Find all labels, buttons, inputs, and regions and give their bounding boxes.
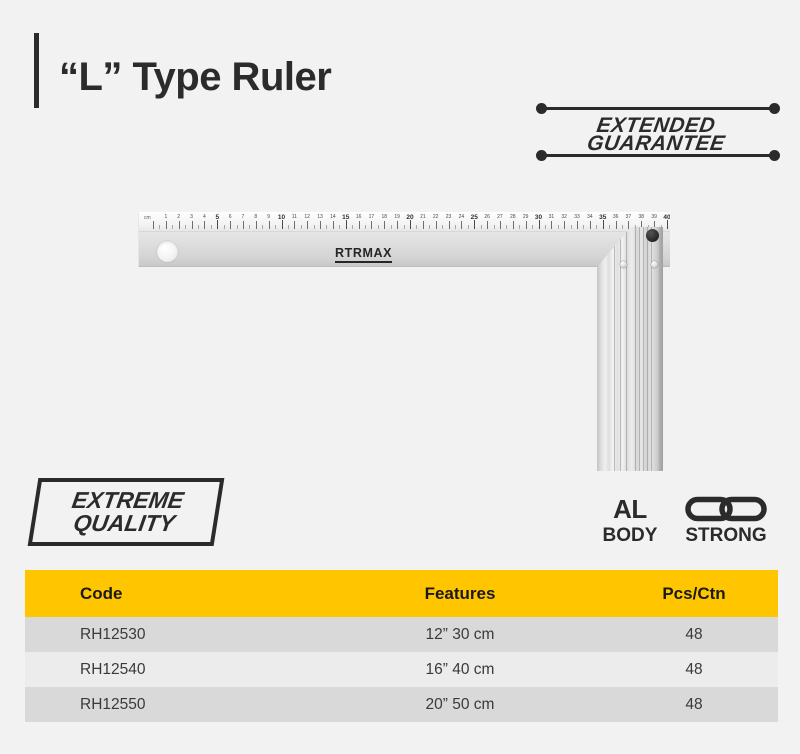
ruler-tick <box>256 221 257 229</box>
ruler-tick-label: 28 <box>510 214 516 220</box>
ruler-tick <box>423 221 424 229</box>
ruler-tick <box>346 220 347 229</box>
ruler-tick <box>204 221 205 229</box>
ruler-tick <box>192 221 193 229</box>
specification-table: Code Features Pcs/Ctn RH12530 12” 30 cm … <box>25 570 778 722</box>
product-image-l-type-ruler: cm 1234567891011121314151617181920212223… <box>130 195 690 495</box>
ruler-tick-label: 7 <box>242 214 245 220</box>
ruler-tick <box>320 221 321 229</box>
ruler-tick-label: 16 <box>356 214 362 220</box>
header-code: Code <box>25 584 310 604</box>
cell-pcs: 48 <box>610 696 778 714</box>
ruler-tick-label: 14 <box>330 214 336 220</box>
ruler-tick <box>288 225 289 229</box>
ruler-horizontal-blade: cm 1234567891011121314151617181920212223… <box>138 212 670 267</box>
ruler-tick-label: 10 <box>278 214 285 221</box>
ruler-tick-label: 15 <box>342 214 349 221</box>
ruler-tick <box>352 225 353 229</box>
ruler-tick <box>481 225 482 229</box>
page-title: “L” Type Ruler <box>59 55 331 100</box>
brand-logo: RTRMAX <box>335 246 392 263</box>
cell-pcs: 48 <box>610 661 778 679</box>
ruler-tick-label: 38 <box>639 214 645 220</box>
ruler-tick <box>359 221 360 229</box>
ruler-unit-label: cm <box>144 215 151 221</box>
table-row[interactable]: RH12530 12” 30 cm 48 <box>25 617 778 652</box>
ruler-tick-label: 32 <box>561 214 567 220</box>
ruler-tick <box>590 221 591 229</box>
ruler-tick <box>571 225 572 229</box>
ruler-tick <box>506 225 507 229</box>
ruler-tick <box>564 221 565 229</box>
ruler-tick-label: 35 <box>599 214 606 221</box>
ruler-tick <box>294 221 295 229</box>
corner-bolt <box>646 229 659 242</box>
ruler-tick-label: 25 <box>471 214 478 221</box>
ruler-tick <box>307 221 308 229</box>
ruler-tick-label: 18 <box>382 214 388 220</box>
table-row[interactable]: RH12540 16” 40 cm 48 <box>25 652 778 687</box>
ruler-tick-label: 24 <box>459 214 465 220</box>
ruler-stock-right-edge <box>659 227 663 471</box>
feature-strong: STRONG <box>670 494 782 548</box>
ruler-tick <box>410 220 411 229</box>
guarantee-dot-top-left <box>536 103 547 114</box>
ruler-tick-label: 22 <box>433 214 439 220</box>
ruler-tick-label: 11 <box>292 214 297 220</box>
ruler-tick <box>249 225 250 229</box>
ruler-tick <box>378 225 379 229</box>
ruler-tick <box>371 221 372 229</box>
ruler-tick <box>314 225 315 229</box>
ruler-tick <box>416 225 417 229</box>
ruler-tick <box>198 225 199 229</box>
table-header-row: Code Features Pcs/Ctn <box>25 570 778 617</box>
ruler-tick <box>159 225 160 229</box>
cell-features: 20” 50 cm <box>310 696 610 714</box>
ruler-tick-label: 36 <box>613 214 619 220</box>
ruler-tick-label: 5 <box>215 214 219 221</box>
ruler-tick <box>513 221 514 229</box>
extreme-quality-badge: EXTREME QUALITY <box>28 478 225 546</box>
quality-label-line1: EXTREME <box>70 489 185 512</box>
ruler-tick-label: 27 <box>497 214 503 220</box>
ruler-tick-label: 33 <box>574 214 580 220</box>
guarantee-dot-top-right <box>769 103 780 114</box>
ruler-tick <box>404 225 405 229</box>
cell-features: 16” 40 cm <box>310 661 610 679</box>
ruler-tick-label: 30 <box>535 214 542 221</box>
ruler-tick <box>391 225 392 229</box>
hanging-hole <box>157 241 178 262</box>
ruler-tick <box>217 220 218 229</box>
ruler-tick <box>179 221 180 229</box>
ruler-tick <box>243 221 244 229</box>
ruler-tick <box>603 220 604 229</box>
ruler-tick <box>545 225 546 229</box>
ruler-tick <box>558 225 559 229</box>
ruler-tick-label: 37 <box>626 214 632 220</box>
feature-al-body: AL BODY <box>596 494 664 548</box>
ruler-tick-label: 21 <box>420 214 426 220</box>
ruler-tick <box>397 221 398 229</box>
ruler-tick <box>282 220 283 229</box>
cell-pcs: 48 <box>610 626 778 644</box>
ruler-tick-label: 4 <box>203 214 206 220</box>
chain-link-icon <box>670 494 782 524</box>
ruler-tick <box>622 225 623 229</box>
ruler-tick <box>436 221 437 229</box>
ruler-tick <box>609 225 610 229</box>
ruler-tick <box>519 225 520 229</box>
ruler-tick <box>339 225 340 229</box>
header-pcs-ctn: Pcs/Ctn <box>610 584 778 604</box>
ruler-tick-label: 26 <box>484 214 490 220</box>
ruler-tick-label: 23 <box>446 214 452 220</box>
ruler-tick <box>461 221 462 229</box>
ruler-tick-label: 20 <box>406 214 413 221</box>
ruler-tick-label: 29 <box>523 214 529 220</box>
ruler-tick <box>468 225 469 229</box>
cell-features: 12” 30 cm <box>310 626 610 644</box>
ruler-tick-label: 40 <box>663 214 670 221</box>
guarantee-label-line2: GUARANTEE <box>528 132 784 156</box>
ruler-tick <box>429 225 430 229</box>
ruler-tick-label: 9 <box>267 214 270 220</box>
ruler-tick-label: 13 <box>317 214 323 220</box>
ruler-tick <box>166 221 167 229</box>
ruler-tick-label: 39 <box>651 214 657 220</box>
ruler-tick-label: 3 <box>190 214 193 220</box>
ruler-tick-label: 31 <box>549 214 555 220</box>
ruler-tick <box>616 221 617 229</box>
ruler-tick <box>269 221 270 229</box>
rivet-left <box>620 261 627 268</box>
ruler-tick <box>230 221 231 229</box>
feature-strong-bottom-label: STRONG <box>670 524 782 548</box>
extended-guarantee-badge: EXTENDED GUARANTEE <box>530 96 782 168</box>
ruler-tick <box>500 221 501 229</box>
header-features: Features <box>310 584 610 604</box>
product-catalog-page: “L” Type Ruler EXTENDED GUARANTEE cm 123… <box>0 0 800 754</box>
ruler-scale-strip: cm 1234567891011121314151617181920212223… <box>139 213 670 232</box>
ruler-tick <box>442 225 443 229</box>
ruler-tick <box>551 221 552 229</box>
ruler-tick <box>384 221 385 229</box>
ruler-tick <box>275 225 276 229</box>
ruler-tick <box>237 225 238 229</box>
table-row[interactable]: RH12550 20” 50 cm 48 <box>25 687 778 722</box>
ruler-tick <box>487 221 488 229</box>
ruler-tick <box>185 225 186 229</box>
ruler-tick <box>583 225 584 229</box>
ruler-tick <box>153 221 154 229</box>
ruler-tick <box>596 225 597 229</box>
cell-code: RH12540 <box>25 661 310 679</box>
ruler-tick <box>172 225 173 229</box>
ruler-tick <box>474 220 475 229</box>
ruler-tick-label: 1 <box>164 214 167 220</box>
feature-al-top-label: AL <box>596 494 664 524</box>
ruler-tick <box>667 220 668 229</box>
ruler-tick <box>539 220 540 229</box>
ruler-tick <box>494 225 495 229</box>
guarantee-top-rule <box>541 107 774 110</box>
feature-icon-group: AL BODY STRONG <box>596 494 782 556</box>
ruler-tick <box>301 225 302 229</box>
ruler-tick <box>211 225 212 229</box>
ruler-tick <box>224 225 225 229</box>
rivet-right <box>651 261 658 268</box>
ruler-tick <box>365 225 366 229</box>
ruler-tick <box>449 221 450 229</box>
ruler-tick-label: 17 <box>369 214 375 220</box>
ruler-tick <box>577 221 578 229</box>
cell-code: RH12550 <box>25 696 310 714</box>
title-accent-bar <box>34 33 39 108</box>
ruler-tick <box>526 221 527 229</box>
ruler-tick <box>455 225 456 229</box>
ruler-tick <box>326 225 327 229</box>
ruler-tick-label: 8 <box>254 214 257 220</box>
ruler-tick <box>262 225 263 229</box>
ruler-tick-label: 34 <box>587 214 593 220</box>
ruler-tick-label: 6 <box>229 214 232 220</box>
ruler-tick-label: 12 <box>304 214 310 220</box>
ruler-tick <box>532 225 533 229</box>
feature-al-bottom-label: BODY <box>596 524 664 548</box>
quality-label-line2: QUALITY <box>72 512 177 535</box>
cell-code: RH12530 <box>25 626 310 644</box>
ruler-vertical-stock <box>597 227 659 471</box>
ruler-tick <box>628 221 629 229</box>
ruler-tick-label: 2 <box>177 214 180 220</box>
ruler-tick <box>333 221 334 229</box>
ruler-tick-label: 19 <box>394 214 400 220</box>
